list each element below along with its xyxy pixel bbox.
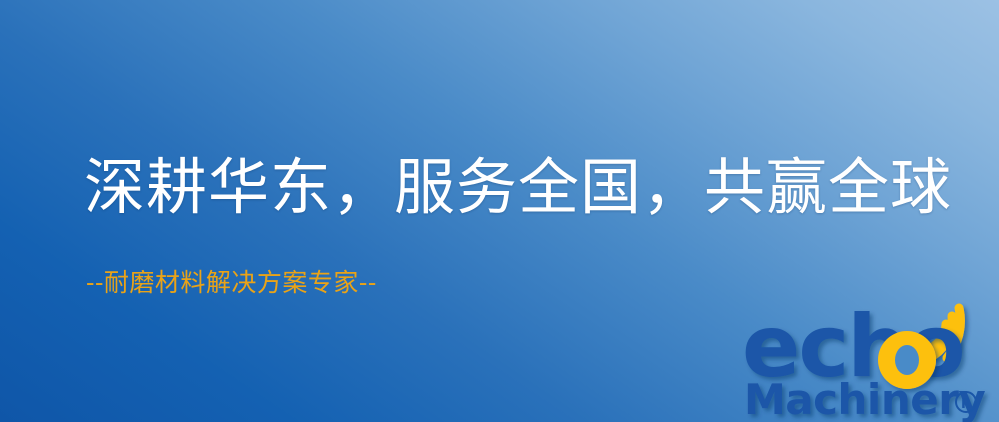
svg-text:R: R bbox=[961, 397, 971, 412]
hero-banner: 深耕华东，服务全国，共赢全球 --耐磨材料解决方案专家-- echo bbox=[0, 0, 999, 422]
banner-headline: 深耕华东，服务全国，共赢全球 bbox=[84, 150, 952, 226]
echo-machinery-logo[interactable]: echo Machinery R bbox=[742, 292, 999, 422]
logo-subtext-machinery: Machinery bbox=[744, 375, 985, 422]
logo-graphic: echo Machinery R bbox=[742, 292, 999, 422]
banner-subtitle: --耐磨材料解决方案专家-- bbox=[86, 266, 377, 300]
